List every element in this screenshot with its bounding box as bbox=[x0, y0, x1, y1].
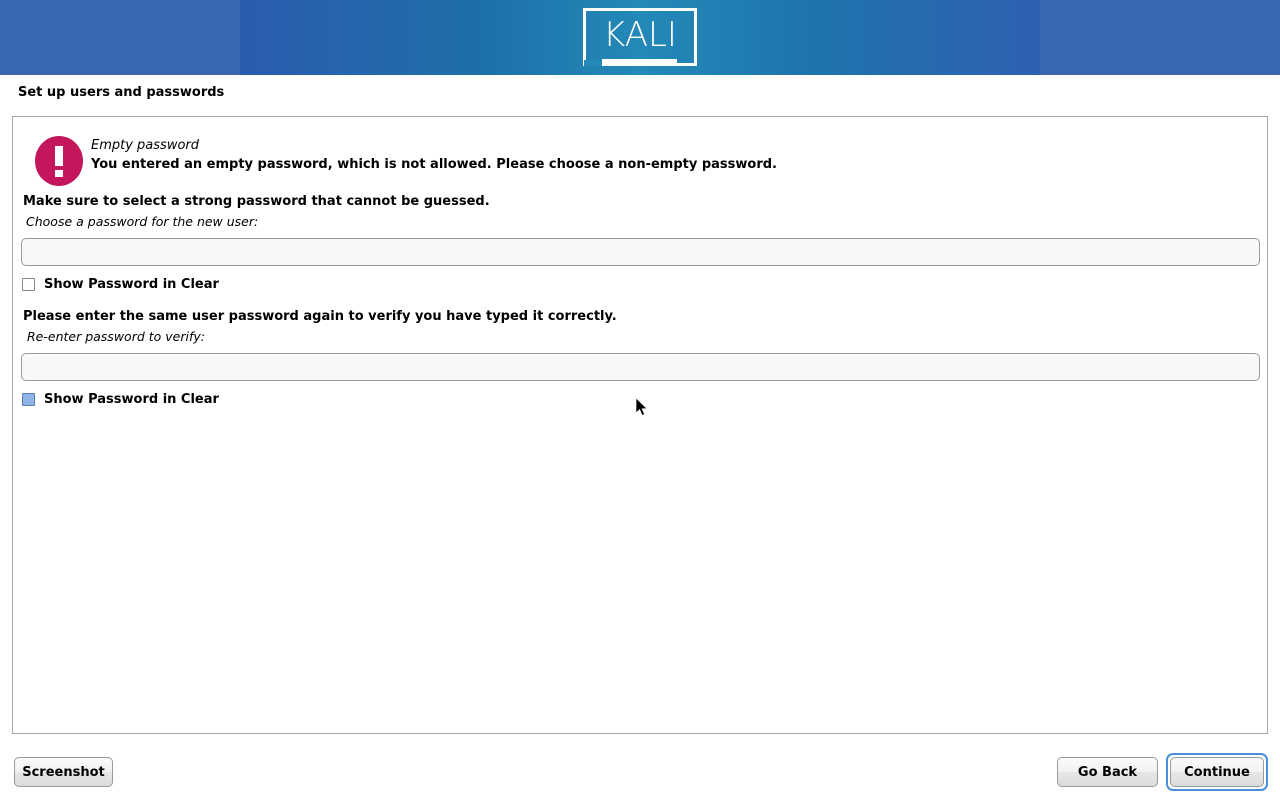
exclamation-dot bbox=[55, 170, 63, 177]
kali-logo-text: KALI bbox=[583, 8, 697, 66]
kali-banner: KALI bbox=[0, 0, 1280, 75]
error-title: Empty password bbox=[91, 138, 199, 153]
show-password-checkbox-row-2[interactable]: Show Password in Clear bbox=[22, 392, 219, 407]
verify-password-hint: Please enter the same user password agai… bbox=[23, 309, 617, 324]
go-back-button[interactable]: Go Back bbox=[1057, 757, 1158, 787]
exclamation-stem bbox=[55, 146, 63, 166]
show-password-checkbox-row-1[interactable]: Show Password in Clear bbox=[22, 277, 219, 292]
password-field-label: Choose a password for the new user: bbox=[26, 214, 258, 229]
show-password-label-1: Show Password in Clear bbox=[44, 277, 219, 292]
error-description: You entered an empty password, which is … bbox=[91, 157, 777, 172]
password-input[interactable] bbox=[21, 238, 1260, 266]
show-password-checkbox-1[interactable] bbox=[22, 278, 35, 291]
page-title: Set up users and passwords bbox=[18, 85, 224, 100]
show-password-checkbox-2[interactable] bbox=[22, 393, 35, 406]
kali-logo: KALI bbox=[583, 8, 697, 66]
verify-password-input[interactable] bbox=[21, 353, 1260, 381]
error-exclamation-icon bbox=[35, 136, 83, 186]
continue-button[interactable]: Continue bbox=[1170, 757, 1264, 787]
mouse-pointer-icon bbox=[636, 398, 648, 417]
installer-content-panel: Empty password You entered an empty pass… bbox=[12, 116, 1268, 734]
show-password-label-2: Show Password in Clear bbox=[44, 392, 219, 407]
verify-field-label: Re-enter password to verify: bbox=[27, 329, 205, 344]
screenshot-button[interactable]: Screenshot bbox=[14, 757, 113, 787]
strong-password-hint: Make sure to select a strong password th… bbox=[23, 194, 490, 209]
